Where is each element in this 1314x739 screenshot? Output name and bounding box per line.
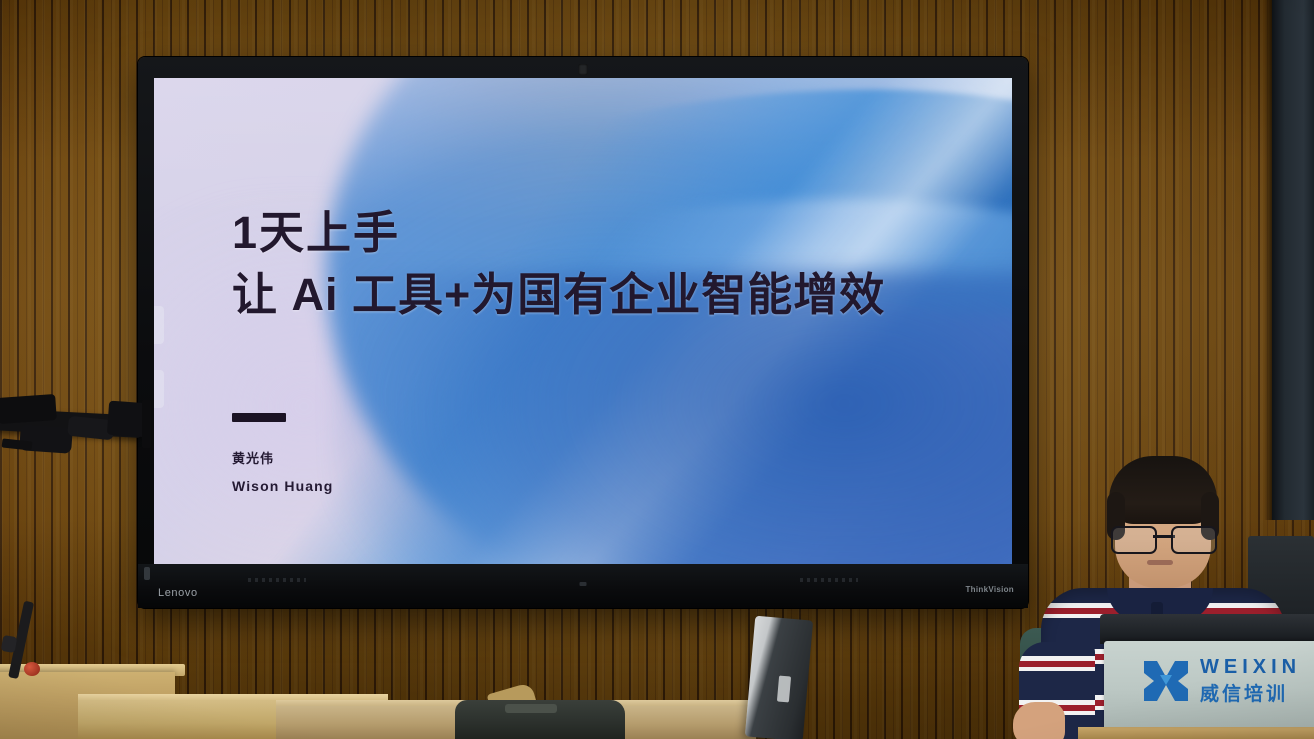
rig-body bbox=[0, 394, 57, 424]
laptop-lid bbox=[1100, 614, 1314, 644]
tilted-laptop-label bbox=[777, 676, 791, 703]
right-desk-top bbox=[1078, 727, 1314, 739]
thinkvision-logo: ThinkVision bbox=[966, 585, 1015, 594]
backpack-strap bbox=[505, 704, 557, 713]
right-dark-wall-panel bbox=[1272, 0, 1314, 520]
presentation-screen: 1天上手 让 Ai 工具+为国有企业智能增效 黄光伟 Wison Huang bbox=[154, 78, 1012, 564]
eyeglasses-icon bbox=[1111, 526, 1217, 550]
screen-side-tab-upper bbox=[154, 306, 164, 344]
weixin-banner-text: WEIXIN 威信培训 bbox=[1200, 657, 1314, 704]
power-button[interactable] bbox=[144, 567, 150, 580]
rig-wall-bracket bbox=[142, 400, 151, 448]
weixin-w-logo bbox=[1140, 655, 1192, 707]
microphone-joint bbox=[1, 635, 18, 653]
slide-heading: 1天上手 bbox=[232, 208, 885, 258]
dark-panel-edge bbox=[1264, 0, 1272, 520]
classroom-scene: 1天上手 让 Ai 工具+为国有企业智能增效 黄光伟 Wison Huang L… bbox=[0, 0, 1314, 739]
presenter-hand bbox=[1013, 702, 1065, 739]
eyeglass-lens-right bbox=[1171, 526, 1217, 554]
lenovo-thinkvision-display: 1天上手 让 Ai 工具+为国有企业智能增效 黄光伟 Wison Huang L… bbox=[138, 57, 1028, 608]
speaker-vent-right bbox=[800, 578, 858, 582]
display-bottom-bezel: Lenovo ThinkVision bbox=[138, 564, 1028, 608]
slide-subheading: 让 Ai 工具+为国有企业智能增效 bbox=[232, 270, 885, 320]
screen-side-tab-lower bbox=[154, 370, 164, 408]
presenter-name-cn: 黄光伟 bbox=[232, 448, 333, 467]
microphone-head-icon bbox=[24, 662, 40, 676]
rig-clip bbox=[2, 438, 33, 450]
weixin-banner-text-en: WEIXIN bbox=[1200, 657, 1314, 677]
slide-byline: 黄光伟 Wison Huang bbox=[232, 448, 333, 494]
ir-receiver-icon bbox=[580, 582, 587, 586]
speaker-vent-left bbox=[248, 578, 306, 582]
weixin-banner-text-cn: 威信培训 bbox=[1200, 685, 1314, 704]
ceiling-camera-rig bbox=[0, 392, 152, 472]
lenovo-logo: Lenovo bbox=[158, 587, 198, 599]
webcam-dot-icon bbox=[579, 64, 588, 75]
presenter-mouth bbox=[1147, 560, 1173, 565]
slide-title-block: 1天上手 让 Ai 工具+为国有企业智能增效 bbox=[232, 208, 885, 319]
presenter-name-en: Wison Huang bbox=[232, 478, 333, 494]
eyeglass-lens-left bbox=[1111, 526, 1157, 554]
slide-accent-bar bbox=[232, 413, 286, 422]
